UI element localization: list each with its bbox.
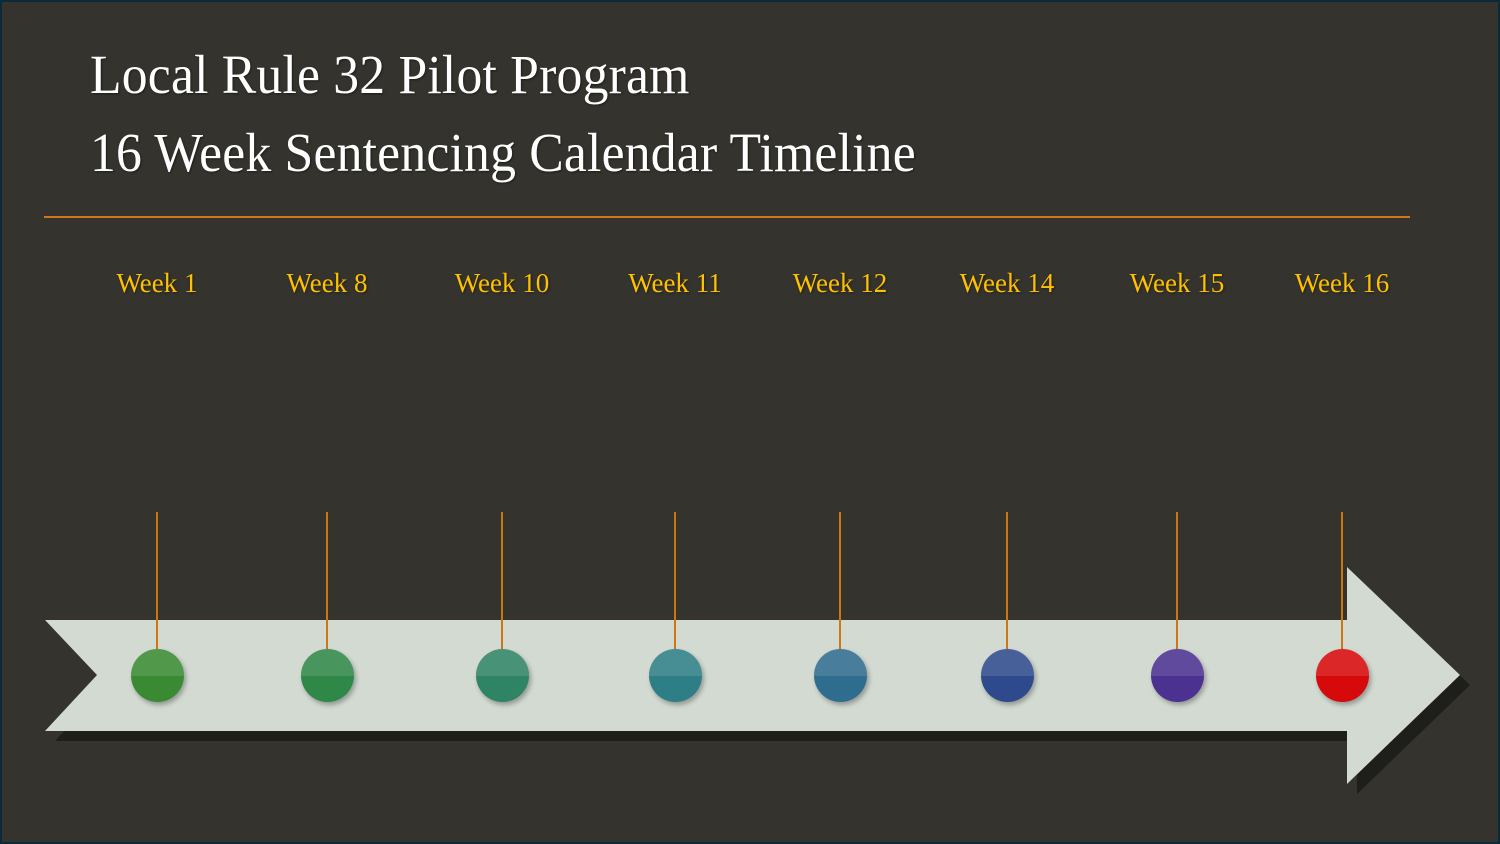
week-label-12: Week 12 (793, 268, 888, 299)
milestone-dot-10[interactable] (476, 649, 529, 702)
week-label-14: Week 14 (960, 268, 1055, 299)
week-label-11: Week 11 (628, 268, 722, 299)
milestone-dot-11[interactable] (649, 649, 702, 702)
milestone-dot-16[interactable] (1316, 649, 1369, 702)
timeline-slide: Local Rule 32 Pilot Program 16 Week Sent… (0, 0, 1500, 844)
page-title: Local Rule 32 Pilot Program 16 Week Sent… (90, 36, 1420, 192)
week-label-1: Week 1 (116, 268, 197, 299)
milestone-dot-15[interactable] (1151, 649, 1204, 702)
title-line-2: 16 Week Sentencing Calendar Timeline (90, 114, 1340, 192)
week-label-8: Week 8 (286, 268, 367, 299)
milestone-dot-8[interactable] (301, 649, 354, 702)
title-divider-rule (44, 216, 1410, 218)
milestone-dot-12[interactable] (814, 649, 867, 702)
timeline-arrow-shape (2, 552, 1500, 812)
week-label-16: Week 16 (1295, 268, 1390, 299)
milestone-dot-1[interactable] (131, 649, 184, 702)
title-line-1: Local Rule 32 Pilot Program (90, 36, 1340, 114)
week-label-15: Week 15 (1130, 268, 1225, 299)
week-label-10: Week 10 (455, 268, 550, 299)
milestone-dot-14[interactable] (981, 649, 1034, 702)
